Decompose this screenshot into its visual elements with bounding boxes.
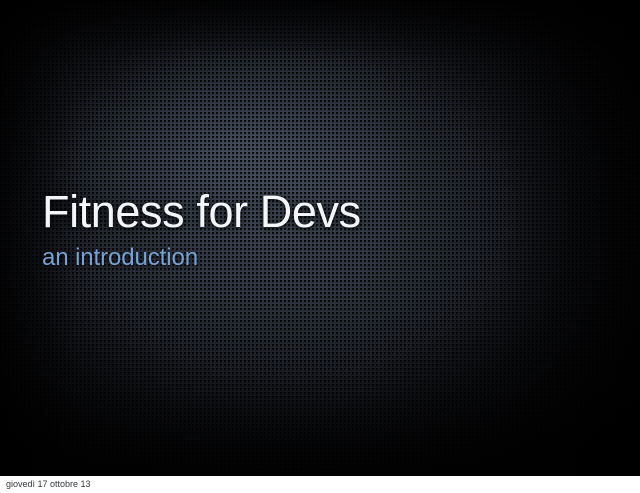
slide-footer-bar: giovedì 17 ottobre 13 bbox=[0, 476, 640, 493]
slide-title-block: Fitness for Devs an introduction bbox=[42, 186, 602, 272]
footer-date-label: giovedì 17 ottobre 13 bbox=[6, 479, 91, 490]
presentation-page: Fitness for Devs an introduction giovedì… bbox=[0, 0, 640, 493]
slide-title: Fitness for Devs bbox=[42, 186, 602, 238]
slide-canvas[interactable]: Fitness for Devs an introduction bbox=[0, 0, 640, 476]
slide-subtitle: an introduction bbox=[42, 244, 602, 272]
